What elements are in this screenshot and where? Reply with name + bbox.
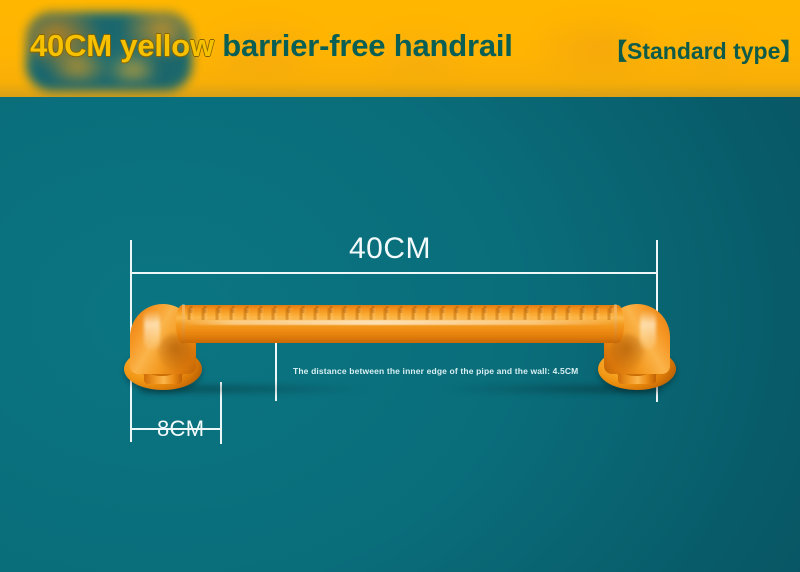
handrail-seam-left — [182, 304, 185, 344]
page-title-rest: barrier-free handrail — [214, 28, 513, 63]
product-diagram-page: 40CM yellow barrier-free handrail 【Stand… — [0, 0, 800, 572]
handrail-elbow-right-highlight — [640, 310, 656, 350]
page-title: 40CM yellow barrier-free handrail — [30, 28, 513, 64]
handrail-specular-highlight — [180, 320, 620, 325]
dimension-label-40cm: 40CM — [349, 232, 431, 266]
dimension-label-8cm: 8CM — [157, 416, 204, 442]
page-title-highlight: 40CM yellow — [30, 28, 214, 63]
handrail-shadow — [140, 384, 660, 394]
handrail-product-illustration — [130, 280, 670, 400]
handrail-elbow-left-highlight — [144, 310, 160, 350]
header-banner: 40CM yellow barrier-free handrail 【Stand… — [0, 0, 800, 97]
handrail-seam-right — [614, 304, 617, 344]
page-subtitle-badge: 【Standard type】 — [604, 32, 800, 66]
dimension-line-width-40cm — [130, 272, 658, 274]
handrail-grip-texture — [184, 308, 616, 320]
